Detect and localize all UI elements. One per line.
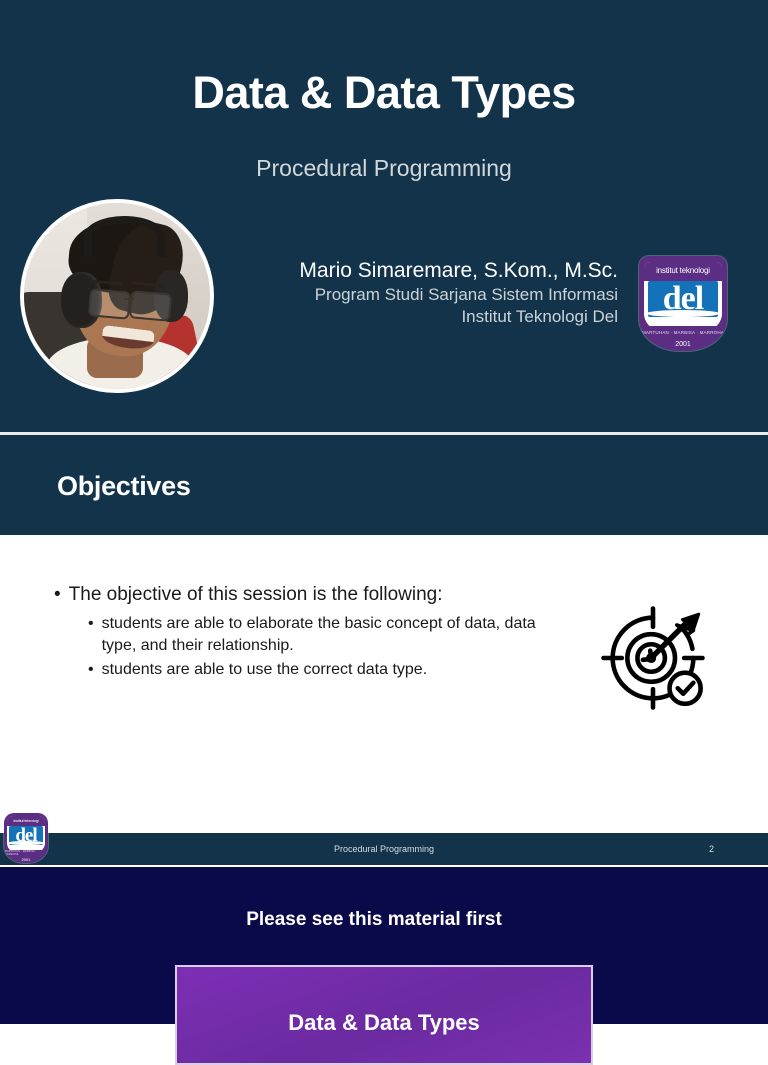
institut-teknologi-del-logo: institut teknologi del MARTUHAN · MARBIS… <box>639 256 727 351</box>
bullet-level2-text: students are able to elaborate the basic… <box>102 613 558 657</box>
slide-deck: Data & Data Types Procedural Programming <box>0 0 768 1024</box>
page-title: Data & Data Types <box>0 68 768 118</box>
author-block: Mario Simaremare, S.Kom., M.Sc. Program … <box>218 258 618 328</box>
presenter-photo <box>24 203 210 389</box>
target-arrow-icon <box>598 603 708 713</box>
slide-header-band: Objectives <box>0 435 768 535</box>
bullet-level2-list: • students are able to elaborate the bas… <box>88 613 558 683</box>
logo-year: 2001 <box>639 339 727 350</box>
author-program: Program Studi Sarjana Sistem Informasi <box>218 284 618 306</box>
logo-ribbon-text: MARTUHAN · MARBISA · MARROHA <box>641 326 725 338</box>
bullet-glyph: • <box>88 659 94 681</box>
footer-course-label: Procedural Programming <box>0 833 768 865</box>
page-number: 2 <box>709 833 714 865</box>
slide-body: • The objective of this session is the f… <box>0 535 768 835</box>
slide-footer-band: Procedural Programming 2 <box>0 833 768 865</box>
bullet-glyph: • <box>54 583 61 607</box>
list-item: • students are able to elaborate the bas… <box>88 613 558 657</box>
slide-heading: Objectives <box>57 471 191 502</box>
video-thumbnail-card[interactable]: Data & Data Types <box>175 965 593 1065</box>
avatar <box>20 199 214 393</box>
list-item: • students are able to use the correct d… <box>88 659 558 681</box>
author-name: Mario Simaremare, S.Kom., M.Sc. <box>218 258 618 284</box>
institut-teknologi-del-logo-footer: institut teknologi del MARTUHAN · MARBIS… <box>4 813 48 863</box>
page-subtitle: Procedural Programming <box>0 155 768 183</box>
bullet-level2-text: students are able to use the correct dat… <box>102 659 428 681</box>
bullet-glyph: • <box>88 613 94 657</box>
author-institution: Institut Teknologi Del <box>218 306 618 328</box>
video-title: Data & Data Types <box>177 1010 591 1036</box>
slide-title-page: Data & Data Types Procedural Programming <box>0 0 768 432</box>
bullet-level1: • The objective of this session is the f… <box>54 583 443 607</box>
bullet-level1-text: The objective of this session is the fol… <box>69 583 443 607</box>
next-slide-heading: Please see this material first <box>0 909 748 931</box>
slide-objectives: Objectives • The objective of this sessi… <box>0 435 768 867</box>
logo-wordmark: del <box>644 262 721 336</box>
logo-year: 2001 <box>4 857 48 863</box>
